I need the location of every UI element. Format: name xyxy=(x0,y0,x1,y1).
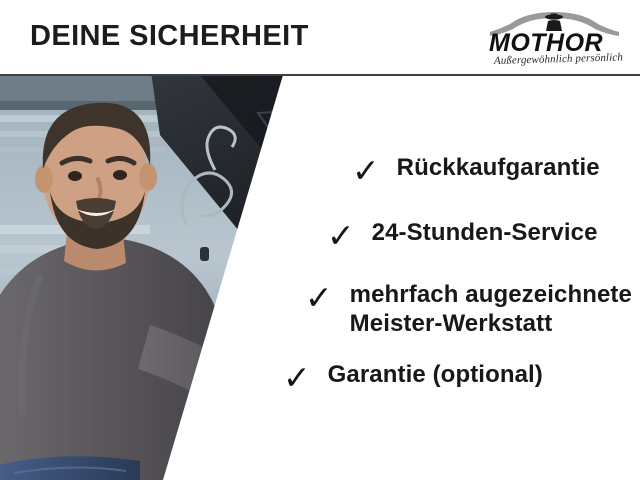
checklist-item-label-line2: Meister-Werkstatt xyxy=(350,310,553,337)
checklist-item-meister-werkstatt: ✓ mehrfach augezeichnete Meister-Werksta… xyxy=(305,280,632,338)
checklist-item-rueckkaufgarantie: ✓ Rückkaufgarantie xyxy=(352,153,600,189)
checklist-item-label: 24-Stunden-Service xyxy=(372,218,598,247)
page-title: DEINE SICHERHEIT xyxy=(30,20,309,53)
benefits-checklist: ✓ Rückkaufgarantie ✓ 24-Stunden-Service … xyxy=(0,75,640,480)
check-icon: ✓ xyxy=(305,280,333,316)
checklist-item-label: Garantie (optional) xyxy=(328,360,543,389)
checklist-item-label: Rückkaufgarantie xyxy=(397,153,600,182)
checklist-item-label-line1: mehrfach augezeichnete xyxy=(350,281,632,308)
checklist-item-24-stunden-service: ✓ 24-Stunden-Service xyxy=(327,218,598,254)
safety-promo-banner: MOTHOR xyxy=(0,0,640,480)
header-divider xyxy=(0,74,640,76)
check-icon: ✓ xyxy=(352,153,380,189)
check-icon: ✓ xyxy=(283,360,311,396)
check-icon: ✓ xyxy=(327,218,355,254)
banner-header: DEINE SICHERHEIT MOTHOR Außergewöhnlich … xyxy=(0,0,640,75)
mothor-logo: MOTHOR Außergewöhnlich persönlich! xyxy=(486,11,623,69)
checklist-item-garantie-optional: ✓ Garantie (optional) xyxy=(283,360,543,396)
logo-tagline: Außergewöhnlich persönlich! xyxy=(493,51,623,67)
checklist-item-label: mehrfach augezeichnete Meister-Werkstatt xyxy=(350,280,632,338)
